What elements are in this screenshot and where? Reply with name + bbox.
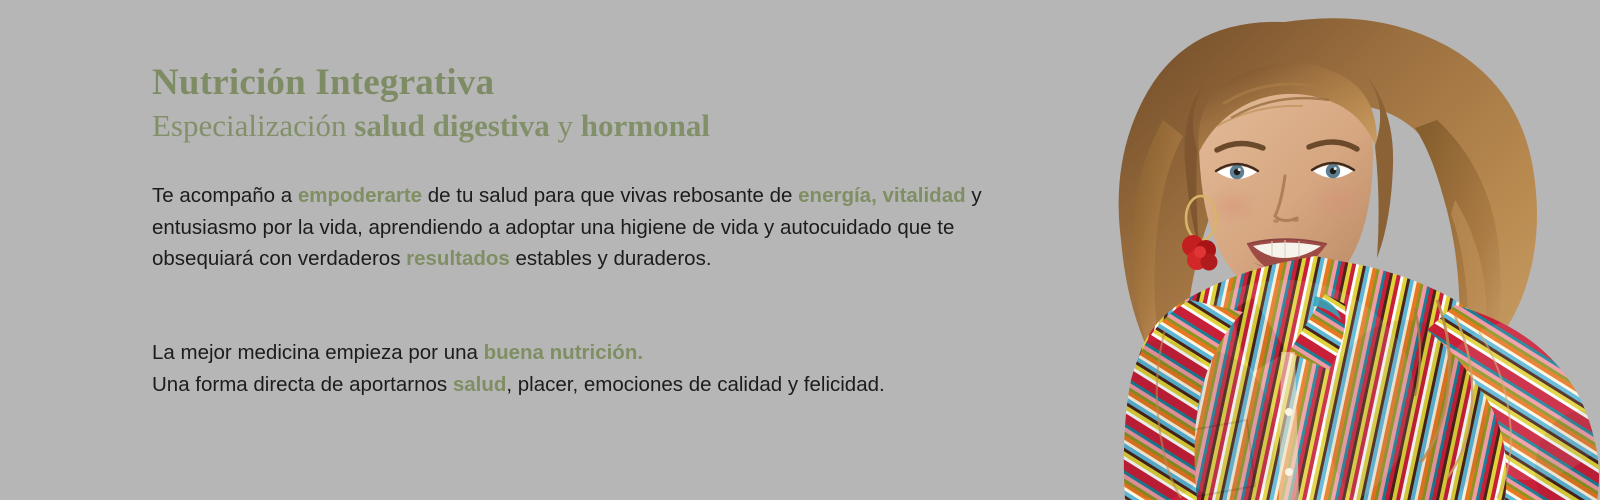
para2-line2-segment-1: Una forma directa de aportarnos (152, 373, 453, 396)
para2-highlight-buena-nutricion: buena nutrición. (484, 341, 643, 364)
subtitle-part-especializacion: Especialización (152, 108, 354, 143)
headline-block: Nutrición Integrativa Especialización sa… (152, 62, 982, 146)
portrait-photo (985, 0, 1600, 500)
body-paragraph-two: La mejor medicina empieza por una buena … (152, 337, 982, 400)
button (1285, 468, 1293, 476)
para1-highlight-resultados: resultados (406, 247, 510, 270)
subtitle-part-hormonal: hormonal (581, 108, 710, 143)
promo-banner: Nutrición Integrativa Especialización sa… (0, 0, 1600, 500)
para2-highlight-salud: salud (453, 373, 507, 396)
para2-line-1: La mejor medicina empieza por una buena … (152, 337, 982, 369)
para1-segment-7: estables y duraderos. (510, 247, 712, 270)
para2-line-2: Una forma directa de aportarnos salud, p… (152, 369, 982, 401)
portrait-photo-graphic (985, 0, 1600, 500)
para2-line1-segment-1: La mejor medicina empieza por una (152, 341, 484, 364)
para1-highlight-energia-vitalidad: energía, vitalidad (798, 184, 965, 207)
body-paragraph-one: Te acompaño a empoderarte de tu salud pa… (152, 180, 982, 275)
subtitle-part-conjunction: y (550, 108, 581, 143)
para1-segment-3: de tu salud para que vivas rebosante de (422, 184, 798, 207)
para1-segment-1: Te acompaño a (152, 184, 298, 207)
portrait-content (985, 0, 1600, 500)
page-title: Nutrición Integrativa (152, 62, 982, 104)
text-column: Nutrición Integrativa Especialización sa… (152, 0, 982, 500)
para1-highlight-empoderarte: empoderarte (298, 184, 422, 207)
subtitle-part-salud-digestiva: salud digestiva (354, 108, 550, 143)
button (1285, 408, 1293, 416)
page-subtitle: Especialización salud digestiva y hormon… (152, 106, 982, 146)
para2-line2-segment-3: , placer, emociones de calidad y felicid… (506, 373, 884, 396)
